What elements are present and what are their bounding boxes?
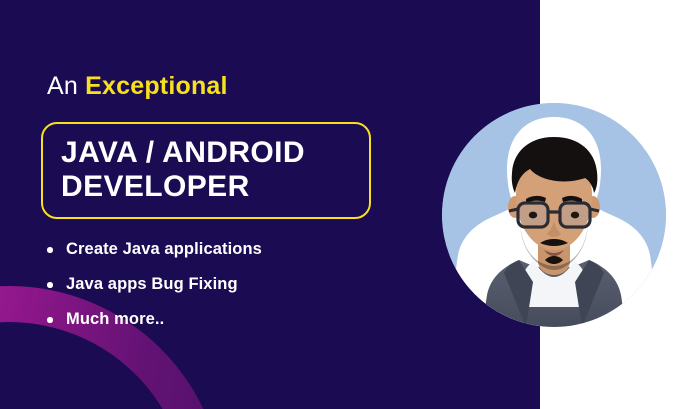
headline: An Exceptional [47, 74, 228, 99]
bullet-label: Much more.. [66, 310, 164, 328]
headline-accent-text: Exceptional [85, 72, 228, 100]
list-item: Create Java applications [46, 240, 262, 259]
gig-banner: An Exceptional JAVA / ANDROID DEVELOPER … [0, 0, 680, 409]
title-line-1: JAVA / ANDROID [61, 136, 353, 170]
portrait-illustration [442, 103, 666, 327]
bullet-dot-icon [47, 317, 53, 323]
avatar [442, 103, 666, 327]
title-line-2: DEVELOPER [61, 170, 353, 204]
bullet-dot-icon [47, 247, 53, 253]
title-box: JAVA / ANDROID DEVELOPER [41, 122, 371, 219]
feature-bullet-list: Create Java applications Java apps Bug F… [46, 240, 262, 329]
list-item: Java apps Bug Fixing [46, 275, 262, 294]
list-item: Much more.. [46, 310, 262, 329]
headline-plain-text: An [47, 72, 78, 100]
bullet-dot-icon [47, 282, 53, 288]
bullet-label: Java apps Bug Fixing [66, 275, 238, 293]
bullet-label: Create Java applications [66, 240, 262, 258]
